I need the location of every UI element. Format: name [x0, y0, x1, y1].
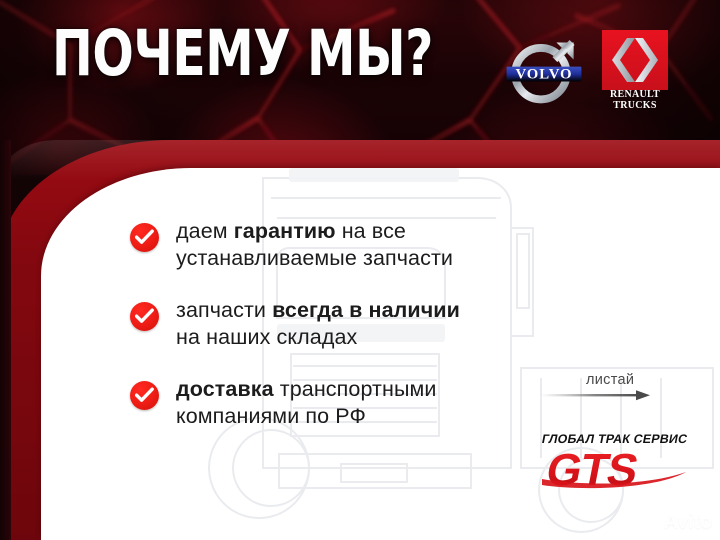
renault-red-box: [602, 30, 668, 90]
avito-label: Avito: [664, 511, 712, 534]
list-item-label: доставка транспортными компаниями по РФ: [176, 376, 437, 429]
list-item: даем гарантию на все устанавливаемые зап…: [130, 218, 453, 271]
gts-company-logo: ГЛОБАЛ ТРАК СЕРВИС GTS: [536, 432, 706, 490]
list-item-label: запчасти всегда в наличии на наших склад…: [176, 297, 460, 350]
check-circle-icon: [130, 381, 159, 410]
check-circle-icon: [130, 302, 159, 331]
list-item-label: даем гарантию на все устанавливаемые зап…: [176, 218, 453, 271]
list-item: доставка транспортными компаниями по РФ: [130, 376, 437, 429]
volvo-wordmark: VOLVO: [515, 66, 572, 82]
arrow-right-icon: [540, 389, 652, 403]
left-dark-edge: [0, 140, 11, 540]
check-circle-icon: [130, 223, 159, 252]
swipe-hint[interactable]: листай: [586, 372, 706, 388]
avito-watermark: Avito: [640, 511, 712, 534]
gts-tagline: ГЛОБАЛ ТРАК СЕРВИС: [541, 432, 689, 446]
renault-diamond-icon: [602, 30, 668, 90]
renault-trucks-logo: RENAULT TRUCKS: [602, 30, 668, 112]
swipe-hint-label: листай: [586, 372, 706, 388]
promo-slide: ПОЧЕМУ МЫ? V: [0, 0, 720, 540]
gts-wordmark: GTS: [536, 445, 706, 491]
renault-wordmark: RENAULT TRUCKS: [602, 90, 668, 111]
avito-dots-icon: [640, 513, 660, 533]
list-item: запчасти всегда в наличии на наших склад…: [130, 297, 460, 350]
page-title: ПОЧЕМУ МЫ?: [52, 22, 433, 85]
volvo-logo: VOLVO: [505, 30, 583, 108]
